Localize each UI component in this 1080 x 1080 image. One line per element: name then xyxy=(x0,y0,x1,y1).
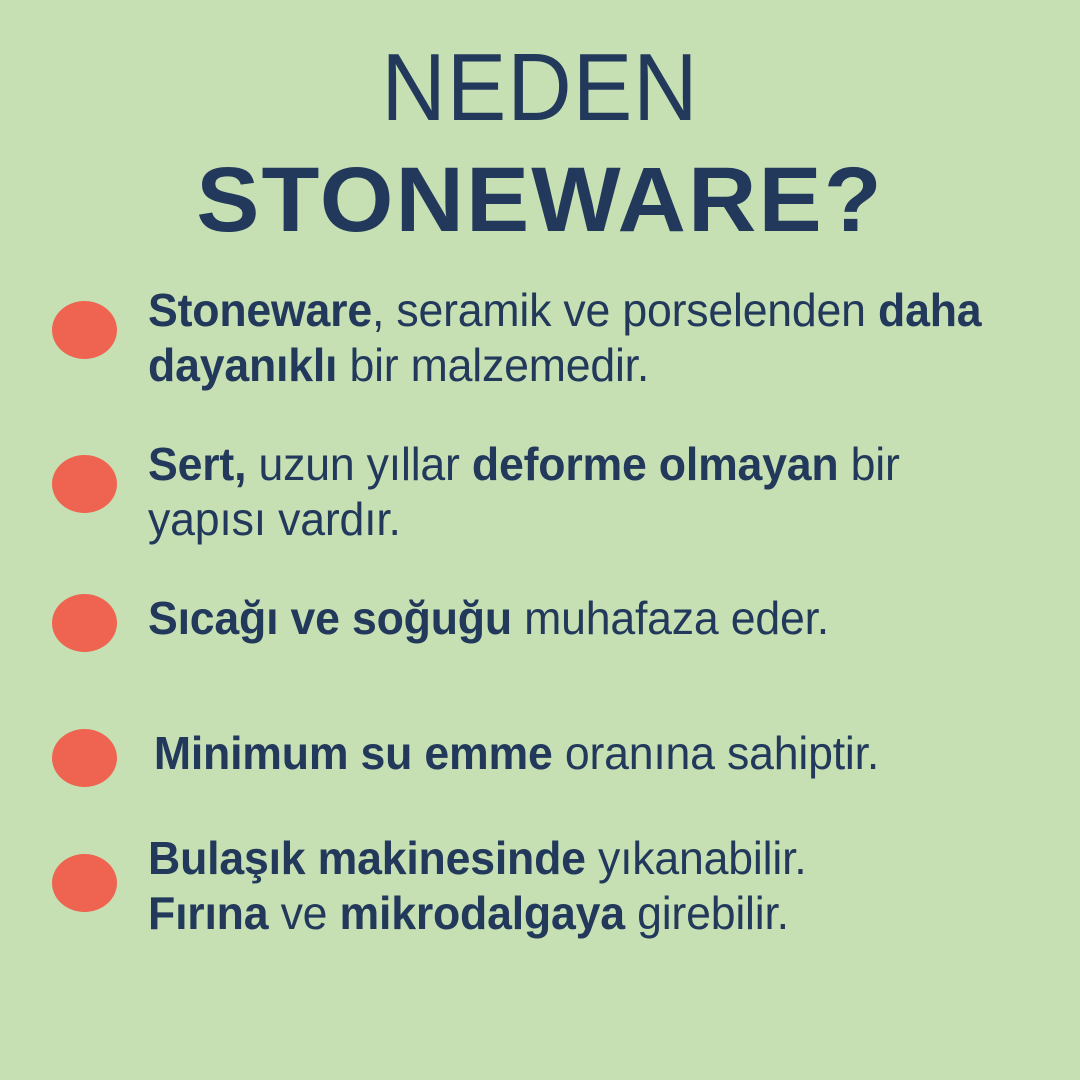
heading-line-neden: NEDEN xyxy=(38,40,1042,136)
list-item-text: Stoneware, seramik ve porselenden daha d… xyxy=(117,283,1051,393)
poster-heading: NEDEN STONEWARE? xyxy=(0,40,1080,252)
list-item-text: Minimum su emme oranına sahiptir. xyxy=(117,726,1051,781)
list-item-text: Sıcağı ve soğuğu muhafaza eder. xyxy=(117,591,1051,646)
bullet-dot-icon xyxy=(52,455,117,513)
stoneware-benefits-poster: NEDEN STONEWARE? Stoneware, seramik ve p… xyxy=(0,0,1080,1080)
list-item-thermal: Sıcağı ve soğuğu muhafaza eder. xyxy=(0,591,1080,652)
list-item-water-absorption: Minimum su emme oranına sahiptir. xyxy=(0,726,1080,787)
heading-line-stoneware: STONEWARE? xyxy=(0,148,1080,252)
bullet-dot-icon xyxy=(52,594,117,652)
list-item-appliance-safe: Bulaşık makinesinde yıkanabilir.Fırına v… xyxy=(0,831,1080,941)
list-item-text: Bulaşık makinesinde yıkanabilir.Fırına v… xyxy=(117,831,1051,941)
list-item-durability: Stoneware, seramik ve porselenden daha d… xyxy=(0,283,1080,393)
list-item-hardness: Sert, uzun yıllar deforme olmayan bir ya… xyxy=(0,437,1080,547)
bullet-dot-icon xyxy=(52,854,117,912)
benefits-list: Stoneware, seramik ve porselenden daha d… xyxy=(0,283,1080,941)
list-item-text: Sert, uzun yıllar deforme olmayan bir ya… xyxy=(117,437,1051,547)
bullet-dot-icon xyxy=(52,729,117,787)
bullet-dot-icon xyxy=(52,301,117,359)
